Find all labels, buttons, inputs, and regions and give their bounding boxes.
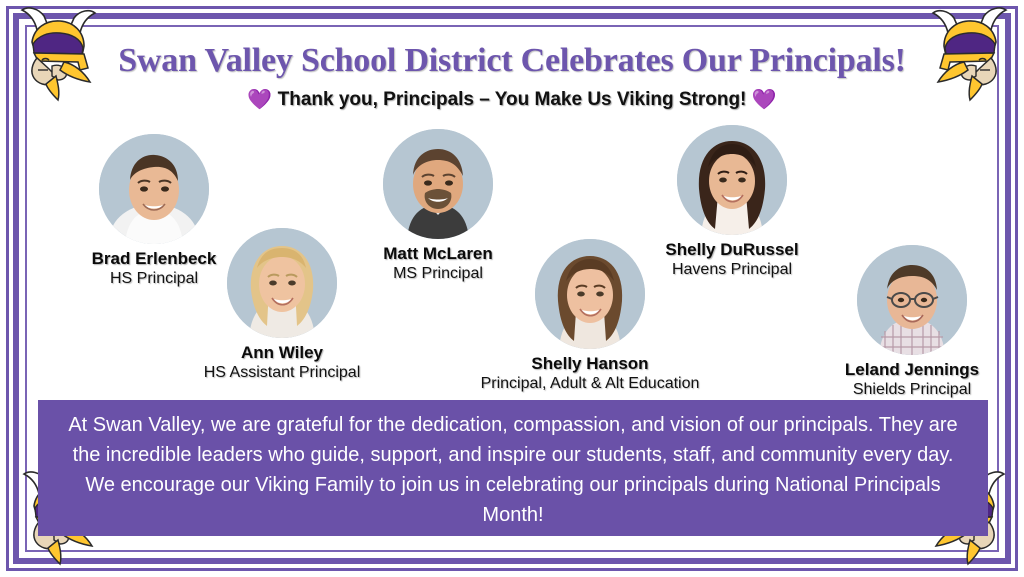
avatar [383, 129, 493, 239]
avatar [227, 228, 337, 338]
heart-icon-left: 💜 [247, 89, 272, 111]
avatar [535, 239, 645, 349]
page-title: Swan Valley School District Celebrates O… [0, 42, 1024, 80]
person-role: Shields Principal [814, 381, 1010, 399]
heart-icon-right: 💜 [752, 89, 777, 111]
subtitle-text: Thank you, Principals – You Make Us Viki… [278, 89, 747, 110]
message-panel: At Swan Valley, we are grateful for the … [38, 400, 988, 536]
avatar [857, 245, 967, 355]
principals-celebration-poster: Swan Valley School District Celebrates O… [0, 0, 1024, 577]
person-card: Leland Jennings Shields Principal [814, 245, 1010, 399]
page-subtitle: 💜 Thank you, Principals – You Make Us Vi… [0, 87, 1024, 112]
person-card: Shelly Hanson Principal, Adult & Alt Edu… [492, 239, 688, 393]
person-role: HS Assistant Principal [154, 364, 410, 382]
person-name: Shelly Hanson [492, 354, 688, 374]
person-name: Ann Wiley [184, 343, 380, 363]
avatar [677, 125, 787, 235]
person-role: Principal, Adult & Alt Education [442, 375, 738, 393]
person-name: Leland Jennings [814, 360, 1010, 380]
